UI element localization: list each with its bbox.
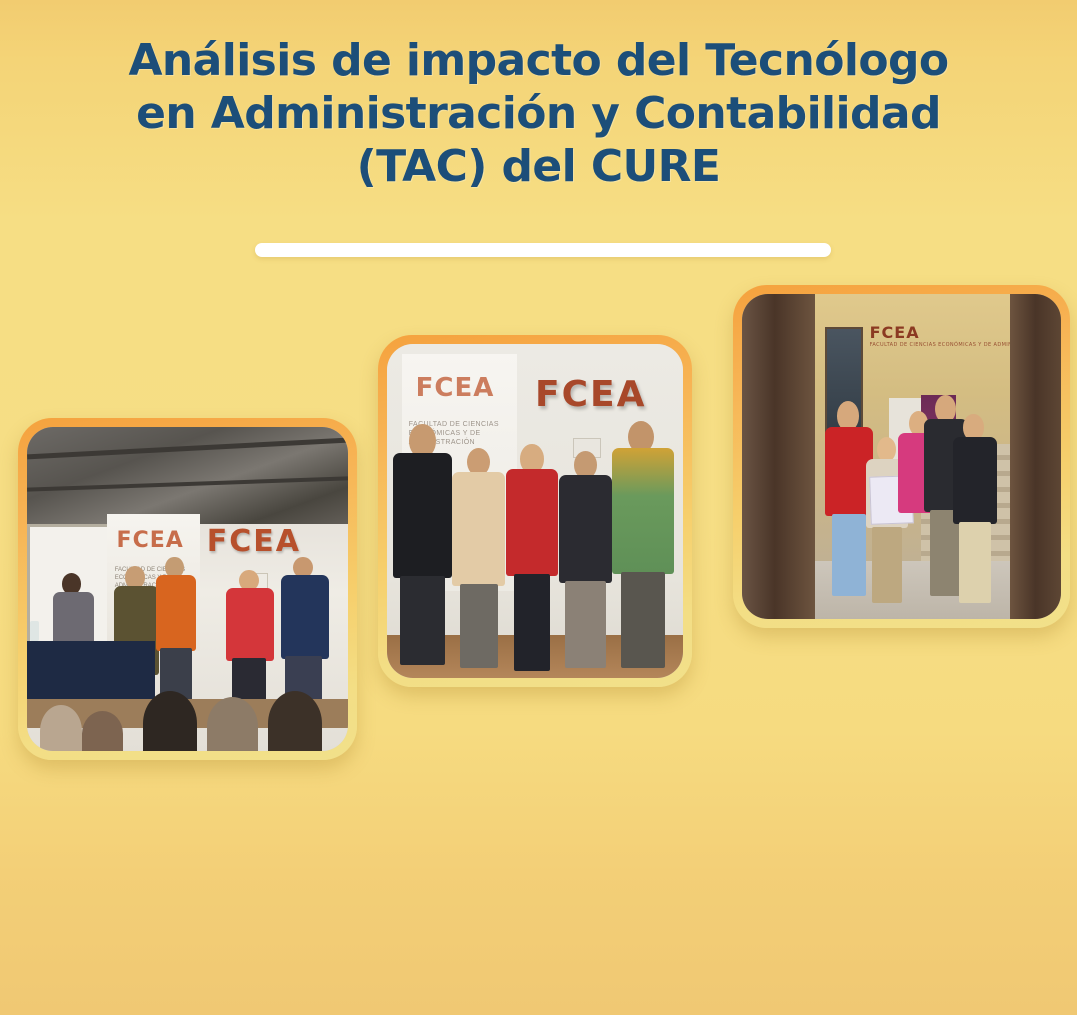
photo-group: FCEA FACULTAD DE CIENCIAS ECONÓMICAS Y D… [378, 335, 692, 687]
title-divider-rule [255, 243, 831, 257]
banner-fcea-text: FCEA [117, 528, 184, 553]
photo-ceremony: FCEA FACULTAD DE CIENCIAS ECONÓMICAS Y D… [18, 418, 357, 760]
title-line-3: (TAC) del CURE [0, 140, 1077, 193]
poster-canvas: Análisis de impacto del Tecnólogo en Adm… [0, 0, 1077, 1015]
page-title: Análisis de impacto del Tecnólogo en Adm… [0, 34, 1077, 193]
photo-group-image: FCEA FACULTAD DE CIENCIAS ECONÓMICAS Y D… [387, 344, 683, 678]
wall-sign-fcea-2: FCEA [535, 374, 646, 415]
photo-family: FCEA FACULTAD DE CIENCIAS ECONÓMICAS Y D… [733, 285, 1070, 628]
wall-sign-fcea: FCEA [207, 524, 301, 559]
photo-family-image: FCEA FACULTAD DE CIENCIAS ECONÓMICAS Y D… [742, 294, 1061, 619]
footer-logo-bar: Udelar en todo el país UNI RADIO www.uni… [0, 865, 1077, 1015]
title-line-1: Análisis de impacto del Tecnólogo [0, 34, 1077, 87]
banner-fcea-text-2: FCEA [416, 373, 495, 403]
title-line-2: en Administración y Contabilidad [0, 87, 1077, 140]
photo-ceremony-image: FCEA FACULTAD DE CIENCIAS ECONÓMICAS Y D… [27, 427, 348, 751]
